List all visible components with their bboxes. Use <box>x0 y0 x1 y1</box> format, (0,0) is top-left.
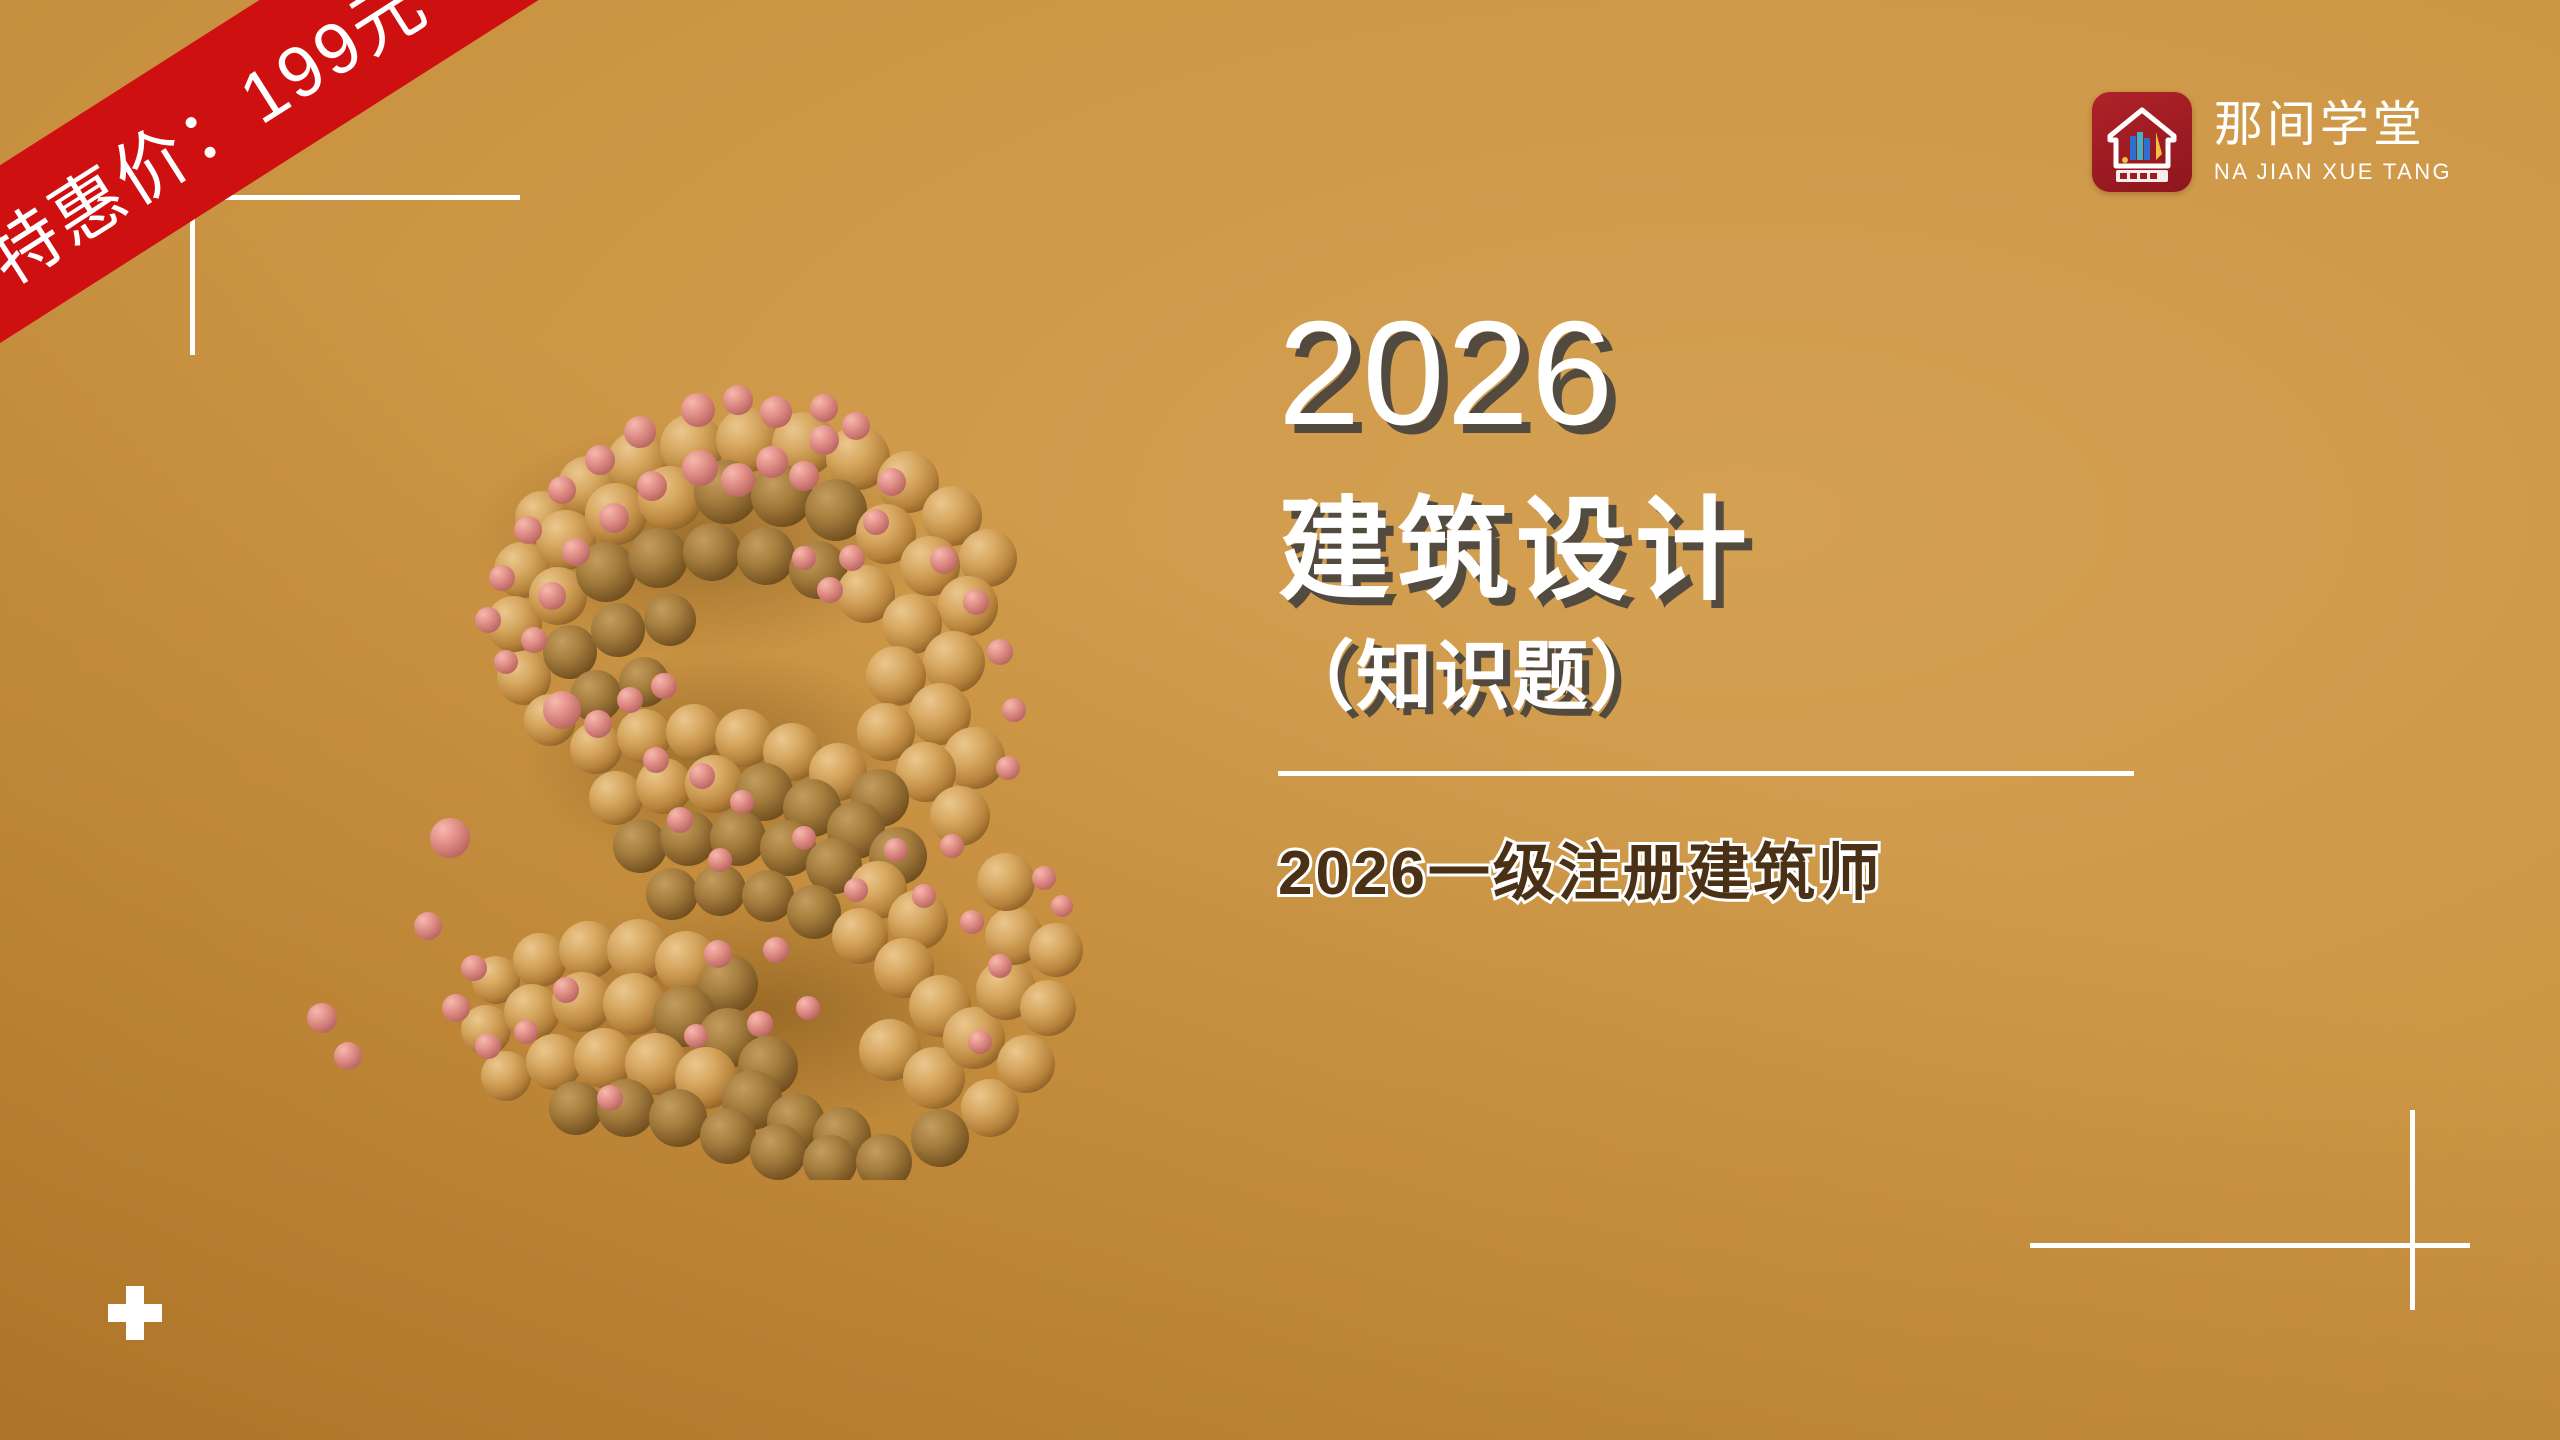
brand-name: 那间学堂 <box>2214 101 2452 150</box>
brand-pinyin: NA JIAN XUE TANG <box>2214 161 2452 183</box>
brand-logo[interactable]: 那间学堂 NA JIAN XUE TANG <box>2092 92 2452 192</box>
crosshair-horizontal-line <box>2030 1243 2470 1248</box>
plus-vertical-bar <box>126 1286 144 1340</box>
plus-icon <box>108 1286 162 1340</box>
hero-title-block: 2026 建筑设计 （知识题） 2026一级注册建筑师 <box>1278 300 2378 912</box>
crosshair-vertical-line <box>190 55 195 355</box>
crosshair-bottom-right-icon <box>2030 1110 2470 1310</box>
hero-sub-title: （知识题） <box>1278 636 2378 720</box>
house-book-logo-icon <box>2092 92 2192 192</box>
hero-year: 2026 <box>1278 300 2378 448</box>
crosshair-horizontal-line <box>70 195 520 200</box>
course-poster-slide: 限时特惠价：199元 <box>0 0 2560 1440</box>
hero-main-title: 建筑设计 <box>1278 492 2378 610</box>
crosshair-vertical-line <box>2410 1110 2415 1310</box>
brand-text-block: 那间学堂 NA JIAN XUE TANG <box>2214 101 2452 183</box>
hero-course-name: 2026一级注册建筑师 <box>1278 822 2378 912</box>
title-divider <box>1278 771 2134 776</box>
sphere-sculpture-graphic <box>300 290 1160 1180</box>
